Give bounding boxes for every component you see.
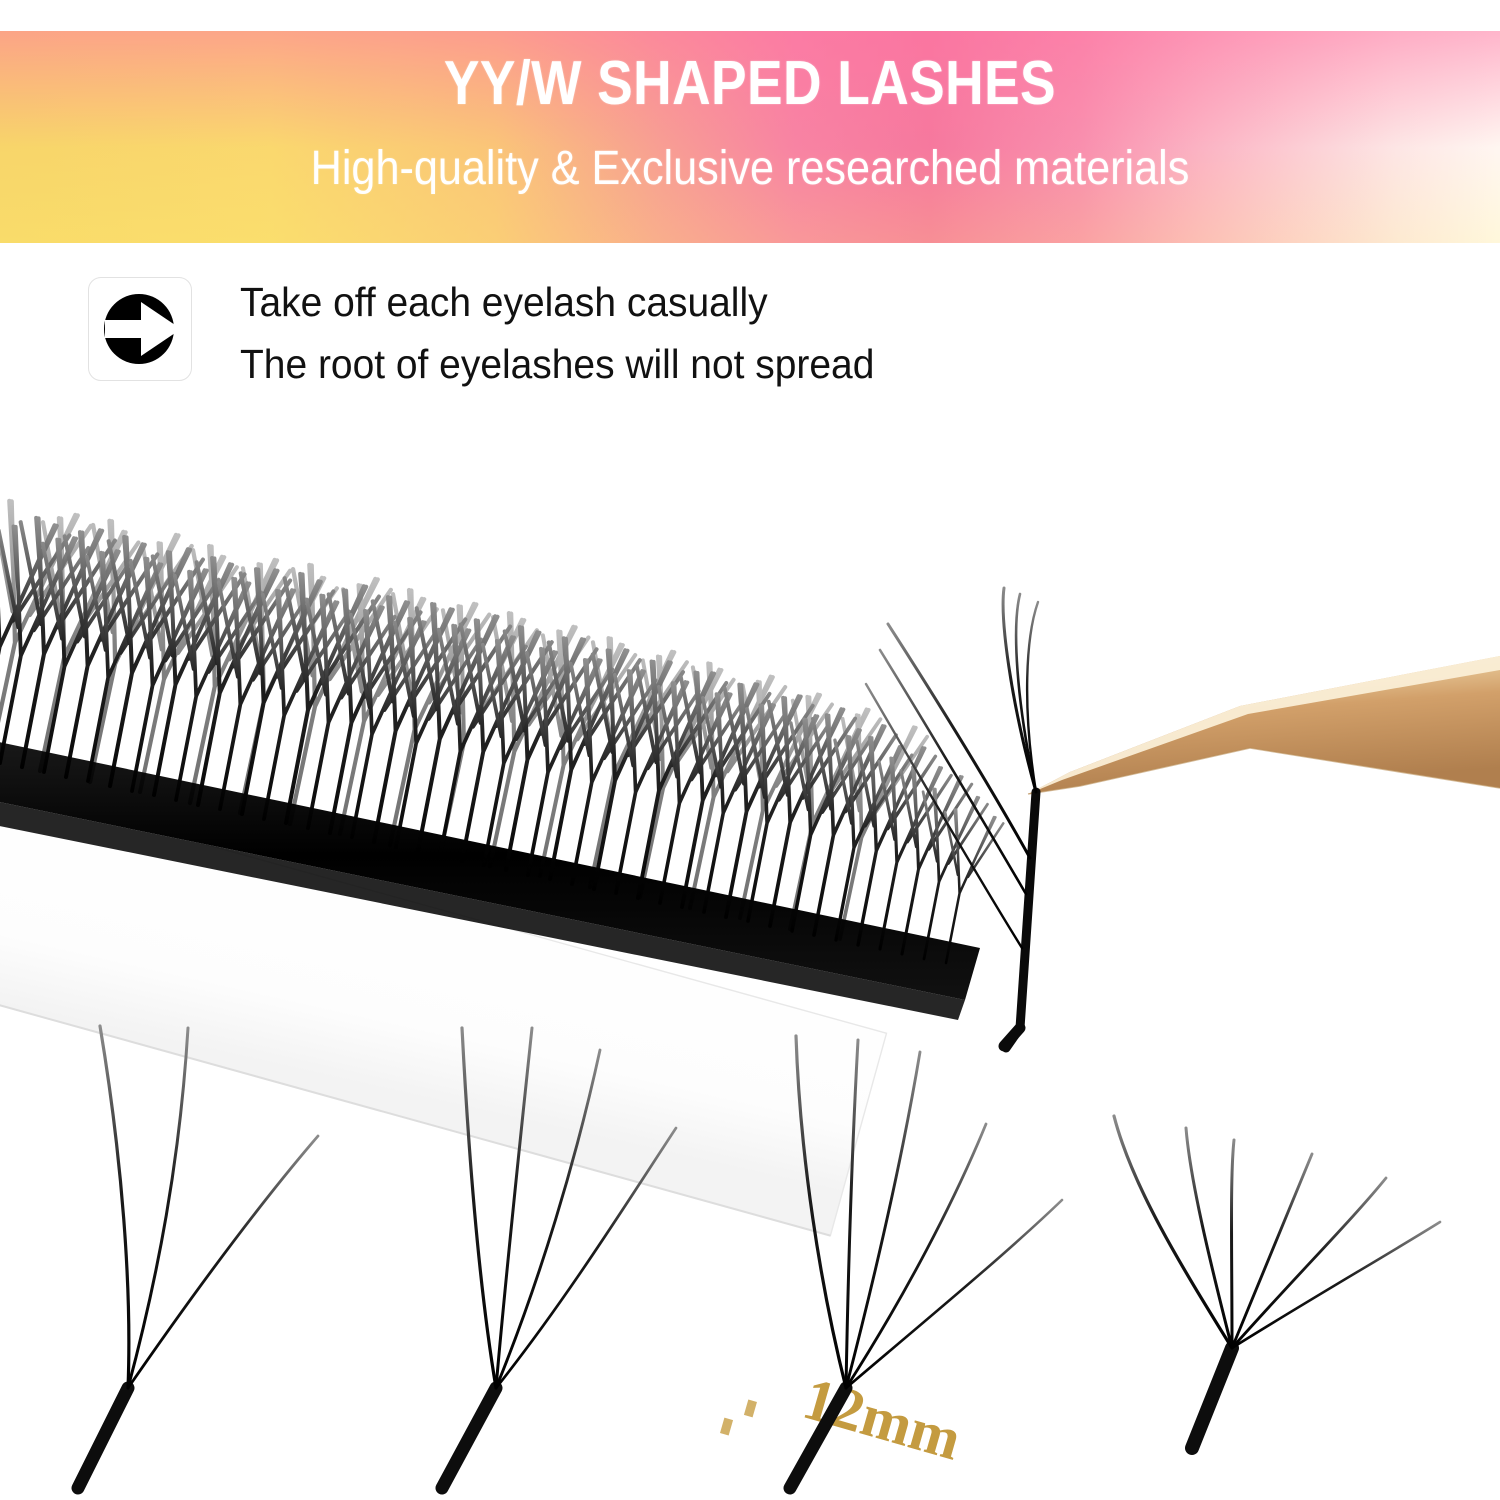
right-arrow-in-circle-icon [88, 277, 192, 381]
product-infographic: YY/W SHAPED LASHES High-quality & Exclus… [0, 0, 1500, 1500]
product-photo: 12mm [0, 388, 1500, 1500]
instruction-line-1: Take off each eyelash casually [240, 276, 1038, 328]
page-title: YY/W SHAPED LASHES [105, 51, 1395, 116]
instruction-line-2: The root of eyelashes will not spread [240, 338, 1038, 390]
instruction-block: Take off each eyelash casually The root … [88, 272, 1088, 392]
page-subtitle: High-quality & Exclusive researched mate… [75, 141, 1425, 196]
header-banner: YY/W SHAPED LASHES High-quality & Exclus… [0, 31, 1500, 243]
instruction-text: Take off each eyelash casually The root … [240, 272, 1080, 390]
